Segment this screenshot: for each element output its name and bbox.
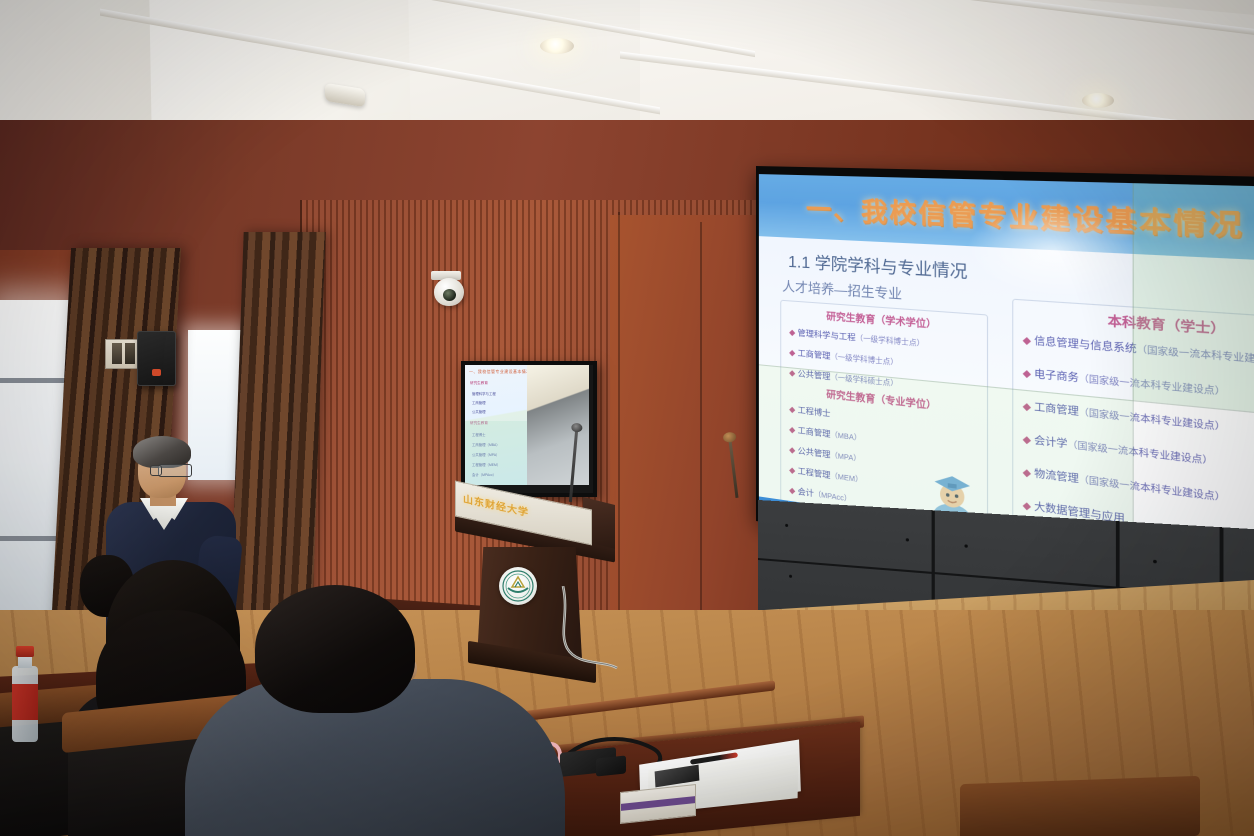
panel-screw (785, 524, 788, 527)
bottle-cap (16, 646, 34, 657)
monitor-line: 工商管理 (472, 400, 486, 405)
monitor-glare (465, 421, 527, 485)
speaker-logo (152, 369, 161, 376)
monitor-line: 公共管理 (472, 409, 486, 414)
wall-seam (700, 222, 702, 642)
attendee-hair (255, 585, 415, 713)
attendee-grey-jacket (185, 585, 565, 836)
panel-screw (1153, 560, 1157, 564)
window-mullion (0, 378, 70, 383)
security-camera-icon (434, 278, 464, 306)
picture-content (125, 343, 135, 364)
framed-picture (105, 339, 141, 369)
glasses-icon (158, 464, 192, 477)
ceiling-downlight (1082, 93, 1114, 108)
podium-cable (555, 586, 715, 706)
box-band (621, 796, 695, 811)
monitor-header-1: 研究生教育 (470, 381, 488, 386)
chair-right (960, 776, 1200, 836)
podium-nameplate-text: 山东财经大学 (463, 490, 529, 519)
screen-tint-green (1133, 183, 1254, 421)
glasses-icon (150, 465, 162, 476)
panel-screw (906, 538, 909, 541)
bottle-neck (18, 656, 32, 668)
panel-screw (789, 575, 792, 578)
monitor-screen: 一、我校信管专业建设基本情况 研究生教育 管理科学与工程 工商管理 公共管理 研… (465, 365, 527, 485)
camera-lens (443, 289, 456, 301)
bottle-label (12, 684, 38, 720)
monitor-line: 管理科学与工程 (472, 391, 496, 396)
monitor-title: 一、我校信管专业建设基本情况 (469, 369, 527, 375)
water-bottle[interactable] (10, 646, 40, 742)
ceiling-downlight (540, 38, 574, 54)
panel-screw (964, 544, 967, 547)
picture-content (112, 343, 122, 364)
conference-room-photo: 一、我校信管专业建设基本情况 研究生教育 管理科学与工程 工商管理 公共管理 研… (0, 0, 1254, 836)
adapter-plug (596, 755, 626, 776)
wall-speaker (137, 331, 176, 386)
